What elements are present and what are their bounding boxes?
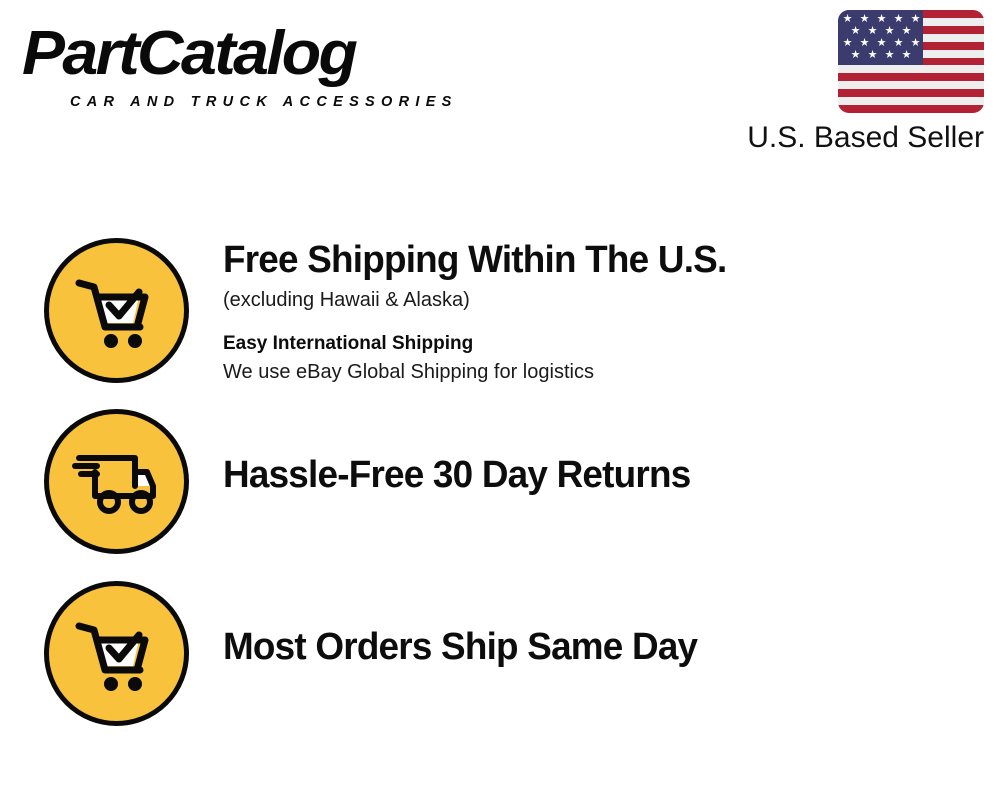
- shopping-cart-check-icon: [44, 581, 189, 726]
- shopping-cart-check-icon: [44, 238, 189, 383]
- page-header: PartCatalog CAR AND TRUCK ACCESSORIES ★ …: [0, 0, 1000, 170]
- us-based-seller-badge: ★ ★ ★ ★ ★ ★ ★ ★ ★ ★ ★ ★ ★ ★ ★ ★ ★ ★ U.S.…: [710, 10, 990, 156]
- brand-wordmark: PartCatalog: [22, 18, 511, 90]
- brand-logo[interactable]: PartCatalog CAR AND TRUCK ACCESSORIES: [22, 18, 492, 118]
- feature-note: (excluding Hawaii & Alaska): [223, 286, 1000, 314]
- feature-text: Most Orders Ship Same Day: [223, 581, 1000, 669]
- feature-title: Most Orders Ship Same Day: [223, 625, 977, 669]
- feature-title: Free Shipping Within The U.S.: [223, 238, 977, 282]
- us-based-seller-label: U.S. Based Seller: [710, 120, 990, 156]
- feature-title: Hassle-Free 30 Day Returns: [223, 453, 977, 497]
- brand-tagline: CAR AND TRUCK ACCESSORIES: [70, 94, 458, 110]
- feature-text: Free Shipping Within The U.S. (excluding…: [223, 238, 1000, 386]
- feature-row: Hassle-Free 30 Day Returns: [0, 409, 1000, 554]
- feature-row: Free Shipping Within The U.S. (excluding…: [0, 238, 1000, 386]
- feature-sub-title: Easy International Shipping: [223, 331, 1000, 357]
- us-flag-icon: ★ ★ ★ ★ ★ ★ ★ ★ ★ ★ ★ ★ ★ ★ ★ ★ ★ ★: [838, 10, 984, 113]
- feature-sub-note: We use eBay Global Shipping for logistic…: [223, 359, 1000, 386]
- feature-row: Most Orders Ship Same Day: [0, 581, 1000, 726]
- delivery-truck-icon: [44, 409, 189, 554]
- flag-canton: ★ ★ ★ ★ ★ ★ ★ ★ ★ ★ ★ ★ ★ ★ ★ ★ ★ ★: [838, 10, 923, 65]
- feature-text: Hassle-Free 30 Day Returns: [223, 409, 1000, 497]
